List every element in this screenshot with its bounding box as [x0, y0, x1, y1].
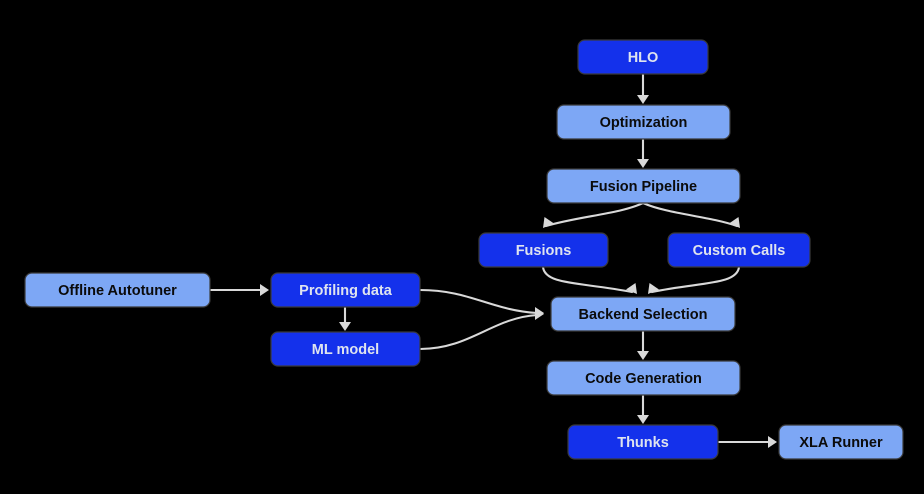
node-box[interactable]: [779, 425, 903, 459]
flowchart-svg: HLOOptimizationFusion PipelineFusionsCus…: [0, 0, 924, 494]
flow-node-backend[interactable]: Backend Selection: [551, 297, 735, 331]
flow-node-hlo[interactable]: HLO: [578, 40, 708, 74]
flow-node-customcall[interactable]: Custom Calls: [668, 233, 810, 267]
arrowhead-icon: [339, 322, 351, 331]
flow-node-mlmodel[interactable]: ML model: [271, 332, 420, 366]
flow-node-xlarunner[interactable]: XLA Runner: [779, 425, 903, 459]
node-box[interactable]: [557, 105, 730, 139]
arrowhead-icon: [535, 308, 544, 320]
flow-node-fusionpipe[interactable]: Fusion Pipeline: [547, 169, 740, 203]
flow-edge: [420, 315, 537, 349]
node-box[interactable]: [568, 425, 718, 459]
arrowhead-icon: [637, 351, 649, 360]
node-layer: HLOOptimizationFusion PipelineFusionsCus…: [25, 40, 903, 459]
arrowhead-icon: [260, 284, 269, 296]
flow-node-fusions[interactable]: Fusions: [479, 233, 608, 267]
node-box[interactable]: [25, 273, 210, 307]
flow-edge: [420, 290, 537, 313]
node-box[interactable]: [271, 332, 420, 366]
node-box[interactable]: [578, 40, 708, 74]
flow-node-codegen[interactable]: Code Generation: [547, 361, 740, 395]
flowchart-canvas: HLOOptimizationFusion PipelineFusionsCus…: [0, 0, 924, 494]
arrowhead-icon: [637, 415, 649, 424]
flow-edge: [652, 267, 739, 292]
flow-node-profiling[interactable]: Profiling data: [271, 273, 420, 307]
flow-node-opt[interactable]: Optimization: [557, 105, 730, 139]
flow-edge: [546, 203, 643, 226]
flow-edge: [643, 203, 737, 226]
arrowhead-icon: [729, 217, 740, 228]
flow-node-autotuner[interactable]: Offline Autotuner: [25, 273, 210, 307]
flow-edge: [543, 267, 632, 292]
node-box[interactable]: [271, 273, 420, 307]
flow-node-thunks[interactable]: Thunks: [568, 425, 718, 459]
arrowhead-icon: [637, 95, 649, 104]
node-box[interactable]: [547, 361, 740, 395]
node-box[interactable]: [668, 233, 810, 267]
node-box[interactable]: [479, 233, 608, 267]
arrowhead-icon: [768, 436, 777, 448]
node-box[interactable]: [547, 169, 740, 203]
node-box[interactable]: [551, 297, 735, 331]
arrowhead-icon: [637, 159, 649, 168]
